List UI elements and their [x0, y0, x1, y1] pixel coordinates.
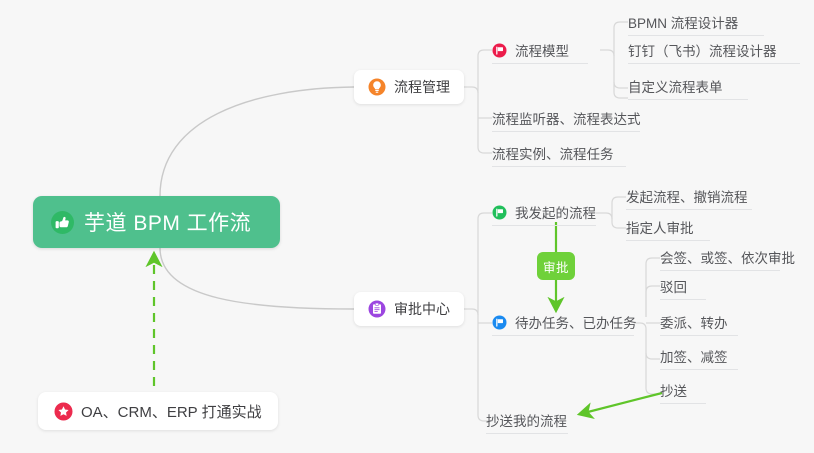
connector-moxing-to-customform	[614, 82, 628, 98]
root-node-label: 芋道 BPM 工作流	[84, 207, 251, 237]
leaf-label: 会签、或签、依次审批	[660, 247, 795, 267]
connector-wofaqi-to-faqi	[612, 197, 626, 219]
leaf-label: 发起流程、撤销流程	[626, 186, 748, 206]
leaf-label: 加签、减签	[660, 346, 728, 366]
connector-liucheng-guanli-to-moxing	[478, 50, 492, 93]
leaf-label: 委派、转办	[660, 312, 728, 332]
flag-icon	[492, 205, 507, 220]
leaf-instance-task[interactable]: 流程实例、流程任务	[492, 143, 626, 167]
branch-node-liucheng-guanli[interactable]: 流程管理	[354, 70, 464, 104]
leaf-label: 我发起的流程	[515, 202, 596, 222]
connector-wofaqi-trunk	[596, 213, 626, 228]
connector-daiban-to-huiqian	[646, 258, 660, 317]
floating-node-oa-crm-erp[interactable]: OA、CRM、ERP 打通实战	[38, 392, 278, 430]
leaf-daiban-yiban-renwu[interactable]: 待办任务、已办任务	[492, 312, 634, 336]
leaf-dingtalk-feishu-designer[interactable]: 钉钉（飞书）流程设计器	[628, 40, 800, 64]
star-icon	[54, 402, 73, 421]
connector-moxing-to-bpmn	[614, 22, 628, 56]
annotation-badge-shenpi: 审批	[537, 252, 575, 280]
connector-daiban-to-chaosong	[646, 353, 660, 394]
connector-root-to-liucheng-guanli	[160, 87, 354, 196]
connector-moxing-trunk	[600, 50, 628, 88]
branch-node-label: 审批中心	[394, 299, 450, 319]
connector-shenpi-to-wofaqi	[478, 213, 492, 315]
branch-node-label: 流程管理	[394, 77, 450, 97]
leaf-label: 驳回	[660, 276, 687, 296]
leaf-label: 指定人审批	[626, 217, 694, 237]
leaf-huiqian-huoqian-yici[interactable]: 会签、或签、依次审批	[660, 247, 780, 271]
flag-icon	[492, 43, 507, 58]
leaf-label: 抄送我的流程	[486, 410, 567, 430]
connector-shenpi-trunk	[462, 309, 492, 421]
leaf-label: 钉钉（飞书）流程设计器	[628, 40, 777, 60]
leaf-label: 流程监听器、流程表达式	[492, 108, 641, 128]
leaf-wo-faqi-de-liucheng[interactable]: 我发起的流程	[492, 202, 596, 226]
leaf-liucheng-moxing[interactable]: 流程模型	[492, 40, 588, 64]
floating-node-label: OA、CRM、ERP 打通实战	[81, 401, 262, 422]
leaf-label: 流程模型	[515, 40, 569, 60]
connector-daiban-to-bohui	[646, 286, 660, 317]
clipboard-icon	[368, 300, 386, 318]
annotation-badge-label: 审批	[543, 257, 569, 276]
leaf-chaosong-wode-liucheng[interactable]: 抄送我的流程	[486, 410, 568, 434]
leaf-chaosong[interactable]: 抄送	[660, 380, 706, 404]
leaf-label: 流程实例、流程任务	[492, 143, 614, 163]
flag-icon	[492, 315, 507, 330]
branch-node-shenpi-zhongxin[interactable]: 审批中心	[354, 292, 464, 326]
leaf-weipai-zhuanban[interactable]: 委派、转办	[660, 312, 738, 336]
lightbulb-icon	[368, 78, 386, 96]
leaf-label: 自定义流程表单	[628, 76, 723, 96]
leaf-label: BPMN 流程设计器	[628, 12, 738, 32]
thumbs-up-icon	[50, 210, 75, 235]
arrow-chaosong-to-chaosongwode	[580, 393, 662, 414]
leaf-custom-process-form[interactable]: 自定义流程表单	[628, 76, 748, 100]
connector-daiban-trunk	[634, 323, 660, 359]
root-node[interactable]: 芋道 BPM 工作流	[33, 196, 280, 248]
leaf-label: 待办任务、已办任务	[515, 312, 637, 332]
leaf-bohui[interactable]: 驳回	[660, 276, 706, 300]
leaf-label: 抄送	[660, 380, 687, 400]
mindmap-canvas: 芋道 BPM 工作流 流程管理 流程模型 BPMN 流程设计器 钉钉（飞书	[0, 0, 814, 453]
leaf-faqi-chexiao[interactable]: 发起流程、撤销流程	[626, 186, 752, 210]
connector-root-to-shenpi-zhongxin	[160, 248, 354, 309]
connector-liucheng-guanli-trunk	[462, 87, 492, 153]
leaf-jiaqian-jianqian[interactable]: 加签、减签	[660, 346, 738, 370]
leaf-zhidingren-shenpi[interactable]: 指定人审批	[626, 217, 710, 241]
leaf-bpmn-designer[interactable]: BPMN 流程设计器	[628, 12, 764, 36]
leaf-listener-expression[interactable]: 流程监听器、流程表达式	[492, 108, 640, 132]
